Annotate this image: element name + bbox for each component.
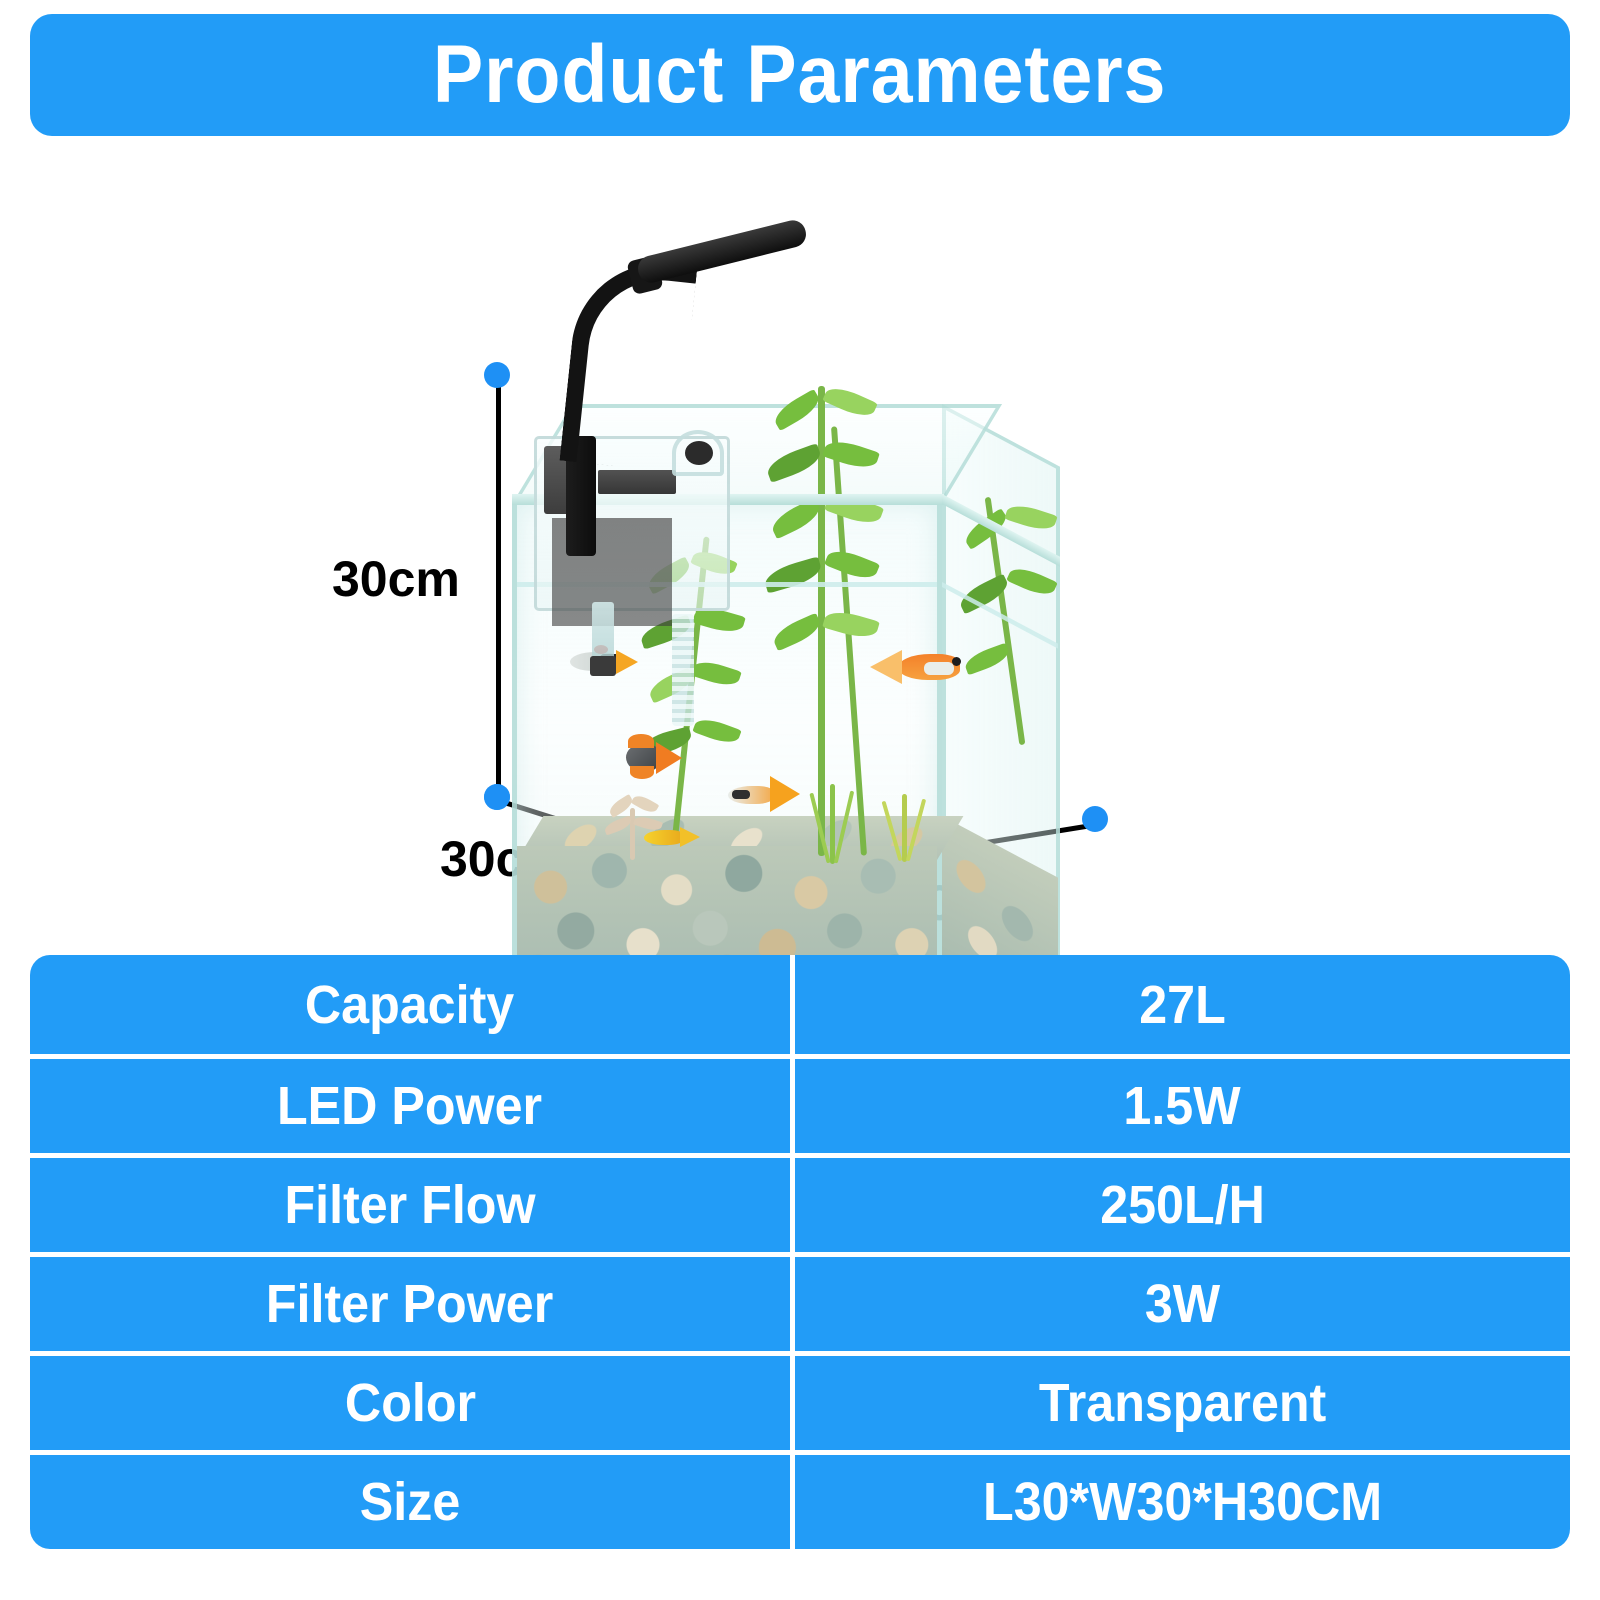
- product-parameters-page: Product Parameters 30cm 30cm 30cm: [0, 0, 1600, 1600]
- product-image-area: 30cm 30cm 30cm: [0, 136, 1600, 936]
- specification-table: Capacity 27L LED Power 1.5W Filter Flow …: [30, 955, 1570, 1549]
- spec-value-cell: 1.5W: [795, 1054, 1570, 1153]
- spec-value-cell: 27L: [795, 955, 1570, 1054]
- spec-label-cell: Size: [30, 1450, 795, 1549]
- spec-value-cell: 250L/H: [795, 1153, 1570, 1252]
- fish-yellow-small: [638, 824, 704, 850]
- spec-label-text: Capacity: [305, 978, 514, 1032]
- filter-intake-tube: [592, 602, 614, 660]
- table-row: Size L30*W30*H30CM: [30, 1450, 1570, 1549]
- spec-value-text: 3W: [1145, 1277, 1220, 1331]
- spec-value-text: 27L: [1139, 978, 1226, 1032]
- table-row: Filter Power 3W: [30, 1252, 1570, 1351]
- spec-value-cell: Transparent: [795, 1351, 1570, 1450]
- grass-tuft-center: [804, 784, 864, 864]
- table-row: Color Transparent: [30, 1351, 1570, 1450]
- aquarium-tank: [486, 346, 1126, 1036]
- spec-label-cell: Filter Flow: [30, 1153, 795, 1252]
- spec-value-text: 1.5W: [1124, 1079, 1241, 1133]
- spec-value-text: 250L/H: [1100, 1178, 1265, 1232]
- filter-intake-foot: [590, 656, 616, 676]
- spec-value-cell: L30*W30*H30CM: [795, 1450, 1570, 1549]
- spec-value-cell: 3W: [795, 1252, 1570, 1351]
- filter-sponge-horizontal: [598, 470, 676, 494]
- led-lamp-head: [635, 218, 808, 286]
- grass-tuft-right: [878, 794, 936, 862]
- spec-label-cell: Capacity: [30, 955, 795, 1054]
- spec-value-text: Transparent: [1039, 1376, 1326, 1430]
- spec-label-text: Color: [344, 1376, 475, 1430]
- filter-intake-strainer: [672, 614, 694, 726]
- height-dimension-label: 30cm: [332, 554, 460, 604]
- fish-swordtail-orange: [868, 646, 978, 688]
- page-header-banner: Product Parameters: [30, 14, 1570, 136]
- fish-angelfish-dark: [614, 732, 684, 780]
- filter-outlet-opening: [685, 441, 713, 465]
- spec-label-text: Filter Power: [266, 1277, 553, 1331]
- spec-label-cell: Filter Power: [30, 1252, 795, 1351]
- spec-label-text: Size: [360, 1475, 460, 1529]
- spec-label-text: Filter Flow: [284, 1178, 535, 1232]
- spec-label-cell: LED Power: [30, 1054, 795, 1153]
- table-row: Capacity 27L: [30, 955, 1570, 1054]
- table-row: Filter Flow 250L/H: [30, 1153, 1570, 1252]
- page-title: Product Parameters: [433, 34, 1167, 116]
- table-row: LED Power 1.5W: [30, 1054, 1570, 1153]
- fish-guppy-orange: [724, 774, 804, 814]
- lamp-gooseneck-arm: [560, 254, 698, 472]
- spec-label-cell: Color: [30, 1351, 795, 1450]
- spec-value-text: L30*W30*H30CM: [983, 1475, 1382, 1529]
- spec-label-text: LED Power: [277, 1079, 542, 1133]
